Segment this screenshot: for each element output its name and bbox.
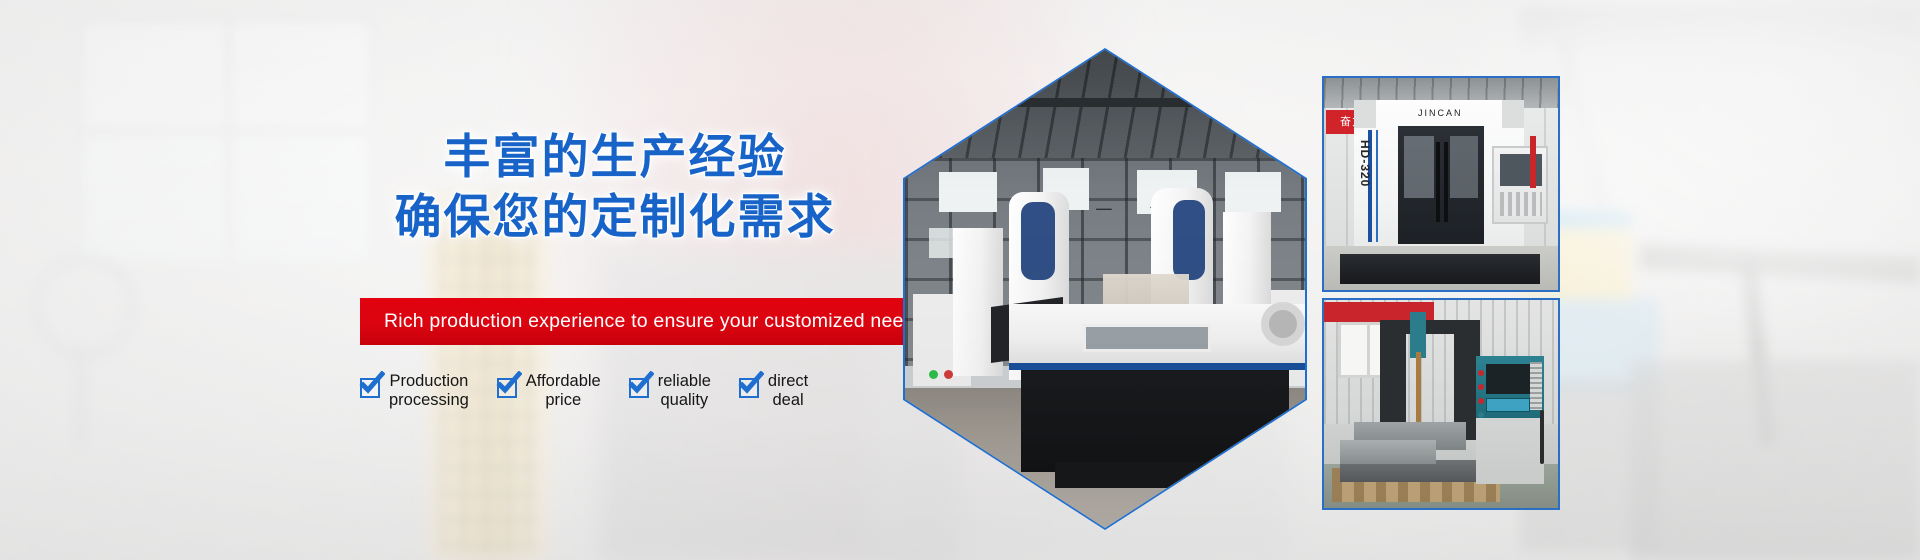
headline-line-2: 确保您的定制化需求 bbox=[380, 188, 850, 248]
checkbox-checked-icon bbox=[360, 378, 380, 398]
thumbnail-machining-center: 奋力 JINCAN HD-320 bbox=[1322, 76, 1560, 292]
feature-item-affordable-price: Affordable price bbox=[497, 372, 601, 410]
feature-list: Production processing Affordable price r… bbox=[360, 372, 880, 432]
page-title: 丰富的生产经验 确保您的定制化需求 bbox=[380, 128, 850, 248]
checkbox-checked-icon bbox=[497, 378, 517, 398]
banner-copy-block: 丰富的生产经验 确保您的定制化需求 Rich production experi… bbox=[0, 0, 920, 560]
feature-label: reliable quality bbox=[658, 372, 711, 410]
thumbnail-brand-label: JINCAN bbox=[1418, 108, 1463, 118]
feature-label: Production processing bbox=[389, 372, 469, 410]
subtitle-bar: Rich production experience to ensure you… bbox=[360, 298, 903, 345]
feature-label: direct deal bbox=[768, 372, 808, 410]
checkbox-checked-icon bbox=[629, 378, 649, 398]
promo-banner: 丰富的生产经验 确保您的定制化需求 Rich production experi… bbox=[0, 0, 1920, 560]
hexagon-photo-frame: 定 一 切 bbox=[903, 48, 1307, 530]
checkbox-checked-icon bbox=[739, 378, 759, 398]
thumbnail-boring-machine bbox=[1322, 298, 1560, 510]
subtitle-bar-text: Rich production experience to ensure you… bbox=[360, 310, 925, 333]
feature-label: Affordable price bbox=[526, 372, 601, 410]
headline-line-1: 丰富的生产经验 bbox=[380, 128, 850, 188]
hexagon-photo: 定 一 切 bbox=[905, 50, 1305, 528]
feature-item-direct-deal: direct deal bbox=[739, 372, 808, 410]
feature-item-reliable-quality: reliable quality bbox=[629, 372, 711, 410]
thumbnail-model-label: HD-320 bbox=[1358, 140, 1372, 187]
feature-item-production-processing: Production processing bbox=[360, 372, 469, 410]
